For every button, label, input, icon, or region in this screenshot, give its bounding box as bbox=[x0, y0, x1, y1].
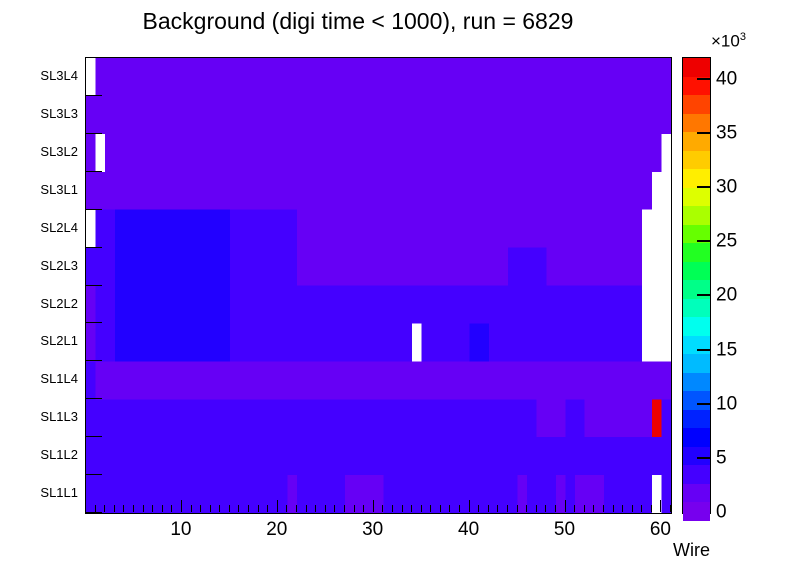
x-axis-tick bbox=[133, 505, 134, 512]
x-axis-tick bbox=[392, 505, 393, 512]
x-axis-tick bbox=[632, 505, 633, 512]
x-axis-label-60: 60 bbox=[650, 520, 671, 539]
x-axis-label-20: 20 bbox=[266, 520, 287, 539]
z-axis-tick bbox=[697, 457, 710, 459]
x-axis-tick bbox=[171, 505, 172, 512]
color-band bbox=[683, 391, 710, 410]
x-axis-label-30: 30 bbox=[362, 520, 383, 539]
chart-title: Background (digi time < 1000), run = 682… bbox=[0, 8, 716, 35]
x-axis-tick bbox=[286, 505, 287, 512]
z-axis-tick bbox=[697, 349, 710, 351]
x-axis-tick bbox=[191, 505, 192, 512]
z-axis-label-35: 35 bbox=[716, 123, 737, 142]
y-axis-label-sl3l4: SL3L4 bbox=[8, 69, 78, 82]
x-axis-tick bbox=[402, 505, 403, 512]
x-axis-tick bbox=[306, 505, 307, 512]
x-axis-tick bbox=[660, 500, 661, 512]
x-axis-tick bbox=[373, 500, 374, 512]
y-axis-label-sl2l3: SL2L3 bbox=[8, 259, 78, 272]
x-axis-tick bbox=[670, 505, 671, 512]
z-axis-label-30: 30 bbox=[716, 178, 737, 197]
x-axis-tick bbox=[469, 500, 470, 512]
x-axis-label-50: 50 bbox=[554, 520, 575, 539]
z-axis-label-20: 20 bbox=[716, 286, 737, 305]
x-axis-tick bbox=[296, 505, 297, 512]
y-axis-label-sl1l4: SL1L4 bbox=[8, 372, 78, 385]
z-axis-tick bbox=[697, 186, 710, 188]
y-axis-tick bbox=[85, 322, 102, 323]
x-axis-tick bbox=[315, 505, 316, 512]
color-band bbox=[683, 114, 710, 133]
z-axis-label-5: 5 bbox=[716, 448, 727, 467]
color-band bbox=[683, 151, 710, 170]
y-axis-label-sl2l4: SL2L4 bbox=[8, 221, 78, 234]
y-axis-tick bbox=[85, 209, 102, 210]
z-axis-tick bbox=[697, 78, 710, 80]
x-axis-tick bbox=[143, 505, 144, 512]
y-axis-tick bbox=[85, 398, 102, 399]
color-band bbox=[683, 262, 710, 281]
color-band bbox=[683, 299, 710, 318]
x-axis-tick bbox=[382, 505, 383, 512]
x-axis-tick bbox=[219, 505, 220, 512]
x-axis-tick bbox=[325, 505, 326, 512]
x-axis-tick bbox=[641, 505, 642, 512]
x-axis-tick bbox=[95, 505, 96, 512]
x-axis-tick bbox=[344, 505, 345, 512]
x-axis-tick bbox=[613, 505, 614, 512]
y-axis-tick bbox=[85, 247, 102, 248]
color-band bbox=[683, 354, 710, 373]
color-band bbox=[683, 58, 710, 77]
color-band bbox=[683, 317, 710, 336]
y-axis-tick bbox=[85, 474, 102, 475]
color-band bbox=[683, 188, 710, 207]
x-axis-tick bbox=[507, 505, 508, 512]
x-axis-tick bbox=[267, 505, 268, 512]
y-axis-label-sl1l1: SL1L1 bbox=[8, 486, 78, 499]
x-axis-tick bbox=[114, 505, 115, 512]
color-band bbox=[683, 373, 710, 392]
x-axis-tick bbox=[181, 500, 182, 512]
x-axis-tick bbox=[334, 505, 335, 512]
z-axis-label-10: 10 bbox=[716, 394, 737, 413]
color-band bbox=[683, 169, 710, 188]
y-axis-tick bbox=[85, 436, 102, 437]
x-axis-tick bbox=[449, 505, 450, 512]
x-axis-tick bbox=[545, 505, 546, 512]
heatmap-cells bbox=[86, 58, 671, 513]
z-axis-label-25: 25 bbox=[716, 232, 737, 251]
x-axis-label-40: 40 bbox=[458, 520, 479, 539]
z-axis-tick bbox=[697, 403, 710, 405]
x-axis-tick bbox=[238, 505, 239, 512]
z-axis-tick bbox=[697, 240, 710, 242]
color-band bbox=[683, 95, 710, 114]
x-axis-tick bbox=[200, 505, 201, 512]
color-band bbox=[683, 206, 710, 225]
y-axis-tick bbox=[85, 360, 102, 361]
x-axis-tick bbox=[593, 505, 594, 512]
y-axis-label-sl3l1: SL3L1 bbox=[8, 183, 78, 196]
x-axis-tick bbox=[488, 505, 489, 512]
x-axis-tick bbox=[152, 505, 153, 512]
color-band bbox=[683, 243, 710, 262]
x-axis-tick bbox=[248, 505, 249, 512]
x-axis-tick bbox=[526, 505, 527, 512]
x-axis-tick bbox=[430, 505, 431, 512]
x-axis-tick bbox=[555, 505, 556, 512]
color-band bbox=[683, 410, 710, 429]
x-axis-tick bbox=[104, 505, 105, 512]
color-band bbox=[683, 484, 710, 503]
y-axis-label-sl3l2: SL3L2 bbox=[8, 145, 78, 158]
x-axis-tick bbox=[421, 505, 422, 512]
x-axis-tick bbox=[517, 505, 518, 512]
color-band bbox=[683, 132, 710, 151]
z-axis-tick bbox=[697, 132, 710, 134]
y-axis-tick bbox=[85, 133, 102, 134]
root-canvas: Background (digi time < 1000), run = 682… bbox=[0, 0, 796, 572]
x-axis-tick bbox=[478, 505, 479, 512]
z-axis-exponent: ×103 bbox=[711, 31, 746, 52]
color-band bbox=[683, 428, 710, 447]
color-scale-bar bbox=[682, 57, 711, 514]
x-axis-title: Wire bbox=[673, 540, 710, 561]
z-axis-label-15: 15 bbox=[716, 340, 737, 359]
x-axis-tick bbox=[459, 505, 460, 512]
z-axis-label-0: 0 bbox=[716, 503, 727, 522]
x-axis-tick bbox=[354, 505, 355, 512]
x-axis-tick bbox=[651, 505, 652, 512]
color-band bbox=[683, 465, 710, 484]
color-band bbox=[683, 502, 710, 521]
y-axis-tick bbox=[85, 285, 102, 286]
x-axis-tick bbox=[536, 505, 537, 512]
y-axis-label-sl2l2: SL2L2 bbox=[8, 297, 78, 310]
x-axis-tick bbox=[210, 505, 211, 512]
color-band bbox=[683, 447, 710, 466]
x-axis-tick bbox=[162, 505, 163, 512]
z-axis-tick bbox=[697, 294, 710, 296]
y-axis-tick bbox=[85, 512, 102, 513]
z-axis-label-40: 40 bbox=[716, 69, 737, 88]
x-axis-tick bbox=[622, 505, 623, 512]
x-axis-tick bbox=[258, 505, 259, 512]
x-axis-tick bbox=[603, 505, 604, 512]
y-axis-label-sl1l2: SL1L2 bbox=[8, 448, 78, 461]
y-axis-tick bbox=[85, 95, 102, 96]
x-axis-tick bbox=[440, 505, 441, 512]
x-axis-tick bbox=[123, 505, 124, 512]
x-axis-tick bbox=[85, 505, 86, 512]
x-axis-tick bbox=[411, 505, 412, 512]
x-axis-tick bbox=[229, 505, 230, 512]
x-axis-tick bbox=[277, 500, 278, 512]
y-axis-tick bbox=[85, 171, 102, 172]
y-axis-label-sl2l1: SL2L1 bbox=[8, 334, 78, 347]
x-axis-tick bbox=[584, 505, 585, 512]
x-axis-tick bbox=[574, 505, 575, 512]
heatmap-plot-frame bbox=[85, 57, 672, 514]
x-axis-label-10: 10 bbox=[170, 520, 191, 539]
y-axis-label-sl3l3: SL3L3 bbox=[8, 107, 78, 120]
color-band bbox=[683, 336, 710, 355]
x-axis-tick bbox=[363, 505, 364, 512]
y-axis-label-sl1l3: SL1L3 bbox=[8, 410, 78, 423]
x-axis-tick bbox=[565, 500, 566, 512]
x-axis-tick bbox=[497, 505, 498, 512]
